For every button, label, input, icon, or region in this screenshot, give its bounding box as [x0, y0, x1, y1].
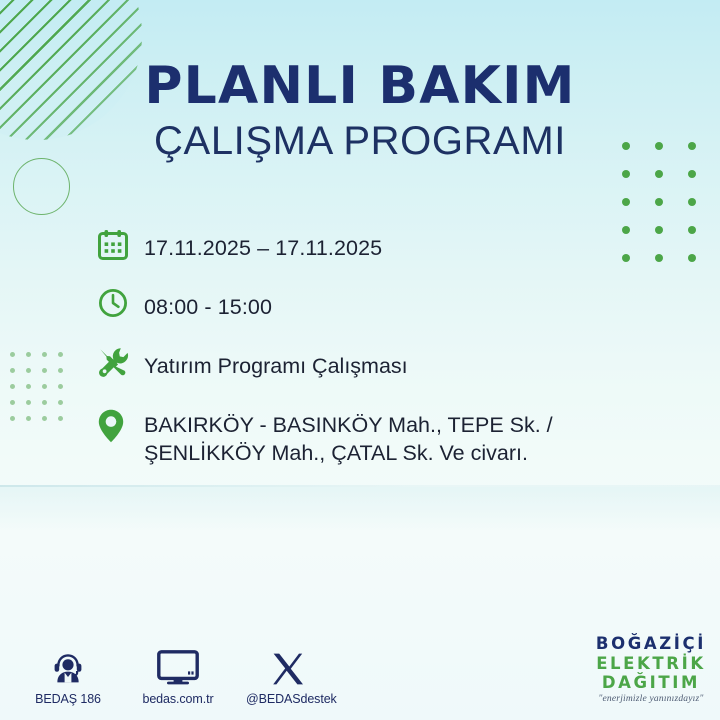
- location-value: BAKIRKÖY - BASINKÖY Mah., TEPE Sk. / ŞEN…: [144, 405, 553, 468]
- decoration-dot: [58, 368, 63, 373]
- detail-row-location: BAKIRKÖY - BASINKÖY Mah., TEPE Sk. / ŞEN…: [98, 405, 658, 468]
- decoration-dot: [10, 416, 15, 421]
- detail-row-time: 08:00 - 15:00: [98, 287, 658, 330]
- decoration-dot: [622, 198, 630, 206]
- contact-website-label: bedas.com.tr: [136, 692, 220, 706]
- contact-x-link[interactable]: @BEDASdestek: [246, 642, 330, 706]
- decoration-dot: [26, 400, 31, 405]
- logo-tagline: "enerjimizle yanınızdayız": [596, 695, 706, 705]
- planned-maintenance-poster: PLANLI BAKIM ÇALIŞMA PROGRAMI 17.11.2025…: [0, 0, 720, 720]
- decoration-dot: [10, 400, 15, 405]
- decoration-dot: [42, 384, 47, 389]
- background-seam-glow: [0, 487, 720, 531]
- monitor-icon: [136, 642, 220, 686]
- detail-row-date: 17.11.2025 – 17.11.2025: [98, 228, 658, 271]
- x-twitter-icon: [246, 642, 330, 686]
- decoration-dot: [688, 198, 696, 206]
- decoration-dot: [622, 170, 630, 178]
- bedas-logo: BOĞAZİÇİ ELEKTRİK DAĞITIM "enerjimizle y…: [596, 636, 706, 704]
- decoration-dot: [688, 254, 696, 262]
- decoration-dot: [10, 352, 15, 357]
- tools-icon: [98, 346, 144, 389]
- decoration-dot: [42, 416, 47, 421]
- poster-footer: BEDAŞ 186 bedas.com.tr: [0, 610, 720, 720]
- decoration-dot: [58, 384, 63, 389]
- decoration-dot: [42, 352, 47, 357]
- decoration-dot: [688, 170, 696, 178]
- contact-phone-link[interactable]: BEDAŞ 186: [26, 642, 110, 706]
- decoration-dot: [688, 226, 696, 234]
- contact-x-label: @BEDASdestek: [246, 692, 330, 706]
- calendar-icon: [98, 228, 144, 271]
- poster-header: PLANLI BAKIM ÇALIŞMA PROGRAMI: [0, 60, 720, 162]
- location-pin-icon: [98, 405, 144, 451]
- detail-row-work-type: Yatırım Programı Çalışması: [98, 346, 658, 389]
- decoration-dot: [10, 384, 15, 389]
- logo-line-elektrik: ELEKTRİK: [596, 656, 706, 673]
- maintenance-details-list: 17.11.2025 – 17.11.2025 08:00 - 15:00: [98, 228, 658, 468]
- page-title: PLANLI BAKIM: [0, 60, 720, 112]
- decoration-dot: [26, 416, 31, 421]
- decoration-dot: [655, 170, 663, 178]
- decoration-dot: [42, 368, 47, 373]
- decoration-dot: [58, 416, 63, 421]
- contact-website-link[interactable]: bedas.com.tr: [136, 642, 220, 706]
- page-subtitle: ÇALIŞMA PROGRAMI: [0, 120, 720, 162]
- logo-line-bogazici: BOĞAZİÇİ: [596, 636, 706, 653]
- decoration-dot: [26, 368, 31, 373]
- decoration-dot: [58, 352, 63, 357]
- decoration-dot: [10, 368, 15, 373]
- decoration-dot: [655, 198, 663, 206]
- time-range-value: 08:00 - 15:00: [144, 287, 272, 321]
- circle-outline-decoration: [13, 158, 70, 215]
- contact-phone-label: BEDAŞ 186: [26, 692, 110, 706]
- decoration-dot: [58, 400, 63, 405]
- clock-icon: [98, 287, 144, 330]
- date-range-value: 17.11.2025 – 17.11.2025: [144, 228, 382, 262]
- decoration-dot: [26, 352, 31, 357]
- logo-line-dagitim: DAĞITIM: [596, 675, 706, 692]
- support-headset-icon: [26, 642, 110, 686]
- work-type-value: Yatırım Programı Çalışması: [144, 346, 408, 380]
- contact-links: BEDAŞ 186 bedas.com.tr: [26, 642, 330, 706]
- decoration-dot: [26, 384, 31, 389]
- decoration-dot: [42, 400, 47, 405]
